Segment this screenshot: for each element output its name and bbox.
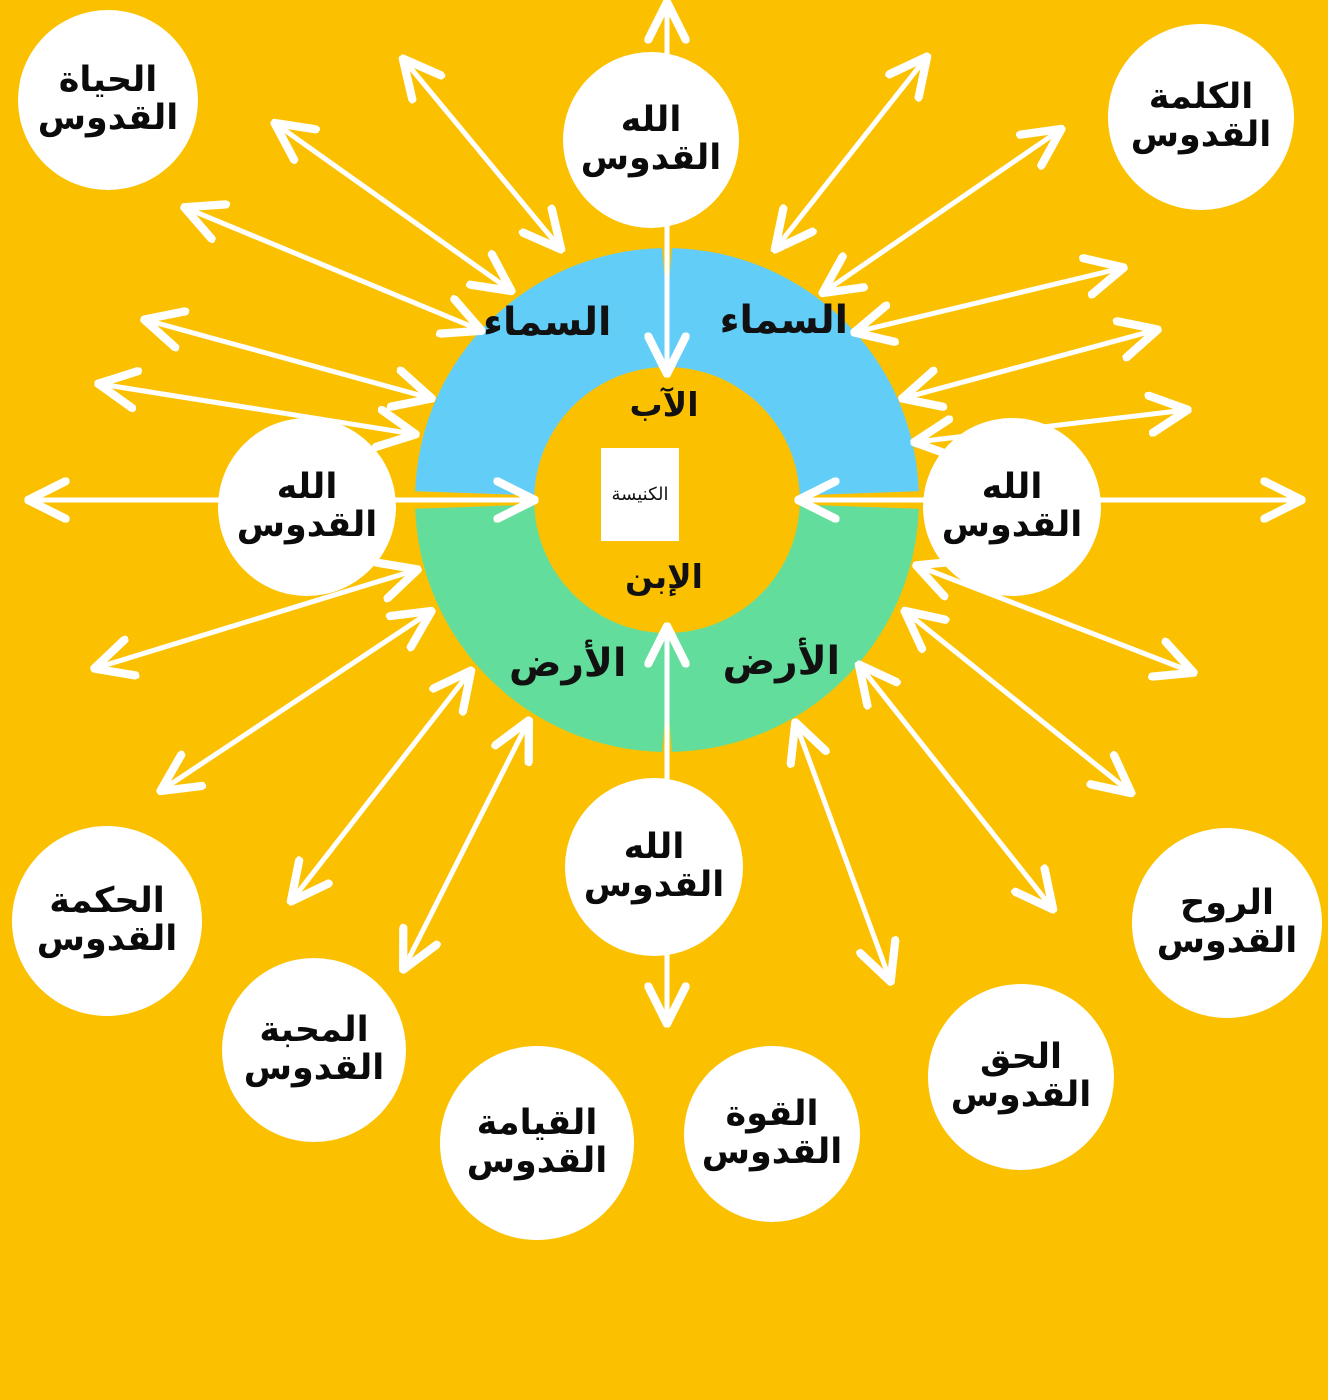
bubble-bottom-center-left-line1: القيامة: [477, 1105, 598, 1143]
sector-label-earth-bottom-left: الأرض: [509, 641, 626, 686]
bubble-bottom-center-right-line2: القدوس: [951, 1077, 1092, 1115]
arrow-ll-2: [162, 612, 430, 790]
bubble-top-left-line1: الحياة: [59, 62, 157, 100]
arrow-ll-3: [292, 672, 470, 900]
bubble-middle-left-line1: الله: [277, 469, 338, 507]
bubble-top-right-line2: القدوس: [1131, 117, 1272, 155]
bubble-bottom-right-line2: القدوس: [1157, 923, 1298, 961]
bubble-lower-left-line2: القدوس: [244, 1050, 385, 1088]
hub-label-son: الإبن: [625, 557, 703, 596]
diagram-canvas: السماء السماء الأرض الأرض الآب الإبن الك…: [0, 0, 1328, 1400]
bubble-bottom-left[interactable]: الحكمة القدوس: [12, 826, 202, 1016]
arrow-ul-4: [146, 320, 430, 398]
sector-earth-bottom-right: [662, 505, 918, 752]
bubble-bottom-center-right[interactable]: الحق القدوس: [928, 984, 1114, 1170]
bubble-middle-right[interactable]: الله القدوس: [923, 418, 1101, 596]
hub-label-father: الآب: [629, 385, 698, 424]
arrow-lr-4: [796, 724, 890, 980]
bubble-bottom-center-left[interactable]: القيامة القدوس: [440, 1046, 634, 1240]
bubble-lower-left[interactable]: المحبة القدوس: [222, 958, 406, 1142]
sector-label-heaven-top-left: السماء: [483, 300, 611, 345]
arrow-lr-3: [860, 666, 1052, 908]
bubble-bottom-left-line1: الحكمة: [49, 883, 164, 921]
arrow-ul-1: [404, 60, 560, 248]
arrow-ul-5: [100, 384, 414, 434]
bubble-bottom-center[interactable]: القوة القدوس: [684, 1046, 860, 1222]
church-label: الكنيسة: [612, 484, 669, 505]
bubble-bottom-center-line1: القوة: [726, 1096, 819, 1134]
bubble-top-center[interactable]: الله القدوس: [563, 52, 739, 228]
bubble-center-bottom[interactable]: الله القدوس: [565, 778, 743, 956]
bubble-bottom-center-right-line1: الحق: [980, 1039, 1062, 1077]
sector-label-earth-bottom-right: الأرض: [723, 639, 840, 684]
bubble-top-left-line2: القدوس: [38, 100, 179, 138]
bubble-middle-right-line1: الله: [982, 469, 1043, 507]
sector-label-heaven-top-right: السماء: [720, 298, 848, 343]
bubble-lower-left-line1: المحبة: [259, 1012, 368, 1050]
bubble-center-bottom-line2: القدوس: [584, 867, 725, 905]
sector-earth-bottom-left: [415, 505, 671, 752]
arrow-ul-3: [186, 208, 480, 330]
sector-heaven-top-right: [662, 248, 918, 495]
bubble-middle-left-line2: القدوس: [237, 507, 378, 545]
church-box[interactable]: الكنيسة: [601, 448, 679, 541]
bubble-center-bottom-line1: الله: [624, 829, 685, 867]
bubble-bottom-right[interactable]: الروح القدوس: [1132, 828, 1322, 1018]
arrow-ur-2: [824, 130, 1060, 292]
arrow-ll-4: [404, 722, 528, 968]
bubble-bottom-left-line2: القدوس: [37, 921, 178, 959]
bubble-top-right-line1: الكلمة: [1149, 79, 1253, 117]
bubble-bottom-right-line1: الروح: [1180, 885, 1274, 923]
bubble-top-left[interactable]: الحياة القدوس: [18, 10, 198, 190]
bubble-top-center-line2: القدوس: [581, 140, 722, 178]
arrow-ur-1: [776, 58, 926, 248]
bubble-middle-left[interactable]: الله القدوس: [218, 418, 396, 596]
bubble-top-right[interactable]: الكلمة القدوس: [1108, 24, 1294, 210]
arrow-ur-4: [904, 330, 1156, 398]
arrow-ur-3: [856, 268, 1122, 332]
bubble-middle-right-line2: القدوس: [942, 507, 1083, 545]
bubble-bottom-center-left-line2: القدوس: [467, 1143, 608, 1181]
bubble-top-center-line1: الله: [621, 102, 682, 140]
bubble-bottom-center-line2: القدوس: [702, 1134, 843, 1172]
